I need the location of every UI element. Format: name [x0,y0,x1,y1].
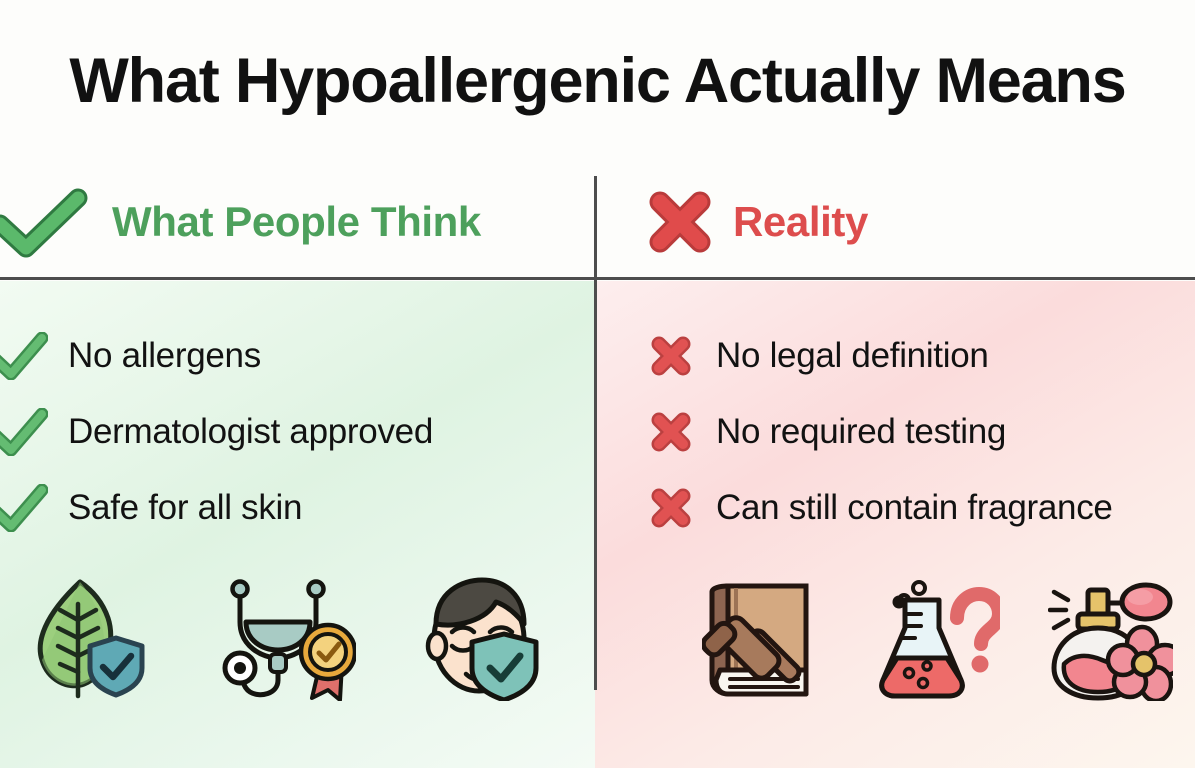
check-mark-icon [0,484,48,532]
list-item-label: Dermatologist approved [68,412,433,452]
left-column-header: What People Think [0,186,481,258]
list-item-label: Safe for all skin [68,488,302,528]
list-item: No required testing [648,394,1113,470]
perfume-bottle-flower-icon [1048,576,1173,701]
list-item: Safe for all skin [0,470,433,546]
cross-mark-icon [648,409,694,455]
left-column-list: No allergens Dermatologist approved Safe… [0,318,433,546]
left-column-title: What People Think [112,198,481,246]
right-column-header: Reality [645,186,868,258]
right-column-list: No legal definition No required testing [648,318,1113,546]
page-title: What Hypoallergenic Actually Means [0,48,1195,114]
horizontal-divider [0,277,1195,280]
check-mark-icon [0,332,48,380]
right-column-title: Reality [733,198,868,246]
vertical-divider [594,176,597,690]
cross-mark-icon [648,333,694,379]
list-item: Can still contain fragrance [648,470,1113,546]
cross-mark-icon [648,485,694,531]
cross-mark-icon [645,187,715,257]
list-item-label: No legal definition [716,336,989,376]
left-illustration-row [28,576,568,701]
check-mark-icon [0,408,48,456]
list-item: Dermatologist approved [0,394,433,470]
infographic-canvas: What Hypoallergenic Actually Means What … [0,0,1195,768]
calm-face-shield-icon [424,576,546,701]
flask-question-icon [875,576,1000,701]
stethoscope-award-icon [216,576,356,701]
law-book-gavel-icon [702,576,827,701]
list-item-label: Can still contain fragrance [716,488,1113,528]
list-item-label: No required testing [716,412,1006,452]
right-illustration-row [702,576,1182,701]
check-mark-icon [0,186,88,258]
leaf-shield-icon [28,576,148,701]
list-item-label: No allergens [68,336,261,376]
list-item: No legal definition [648,318,1113,394]
list-item: No allergens [0,318,433,394]
